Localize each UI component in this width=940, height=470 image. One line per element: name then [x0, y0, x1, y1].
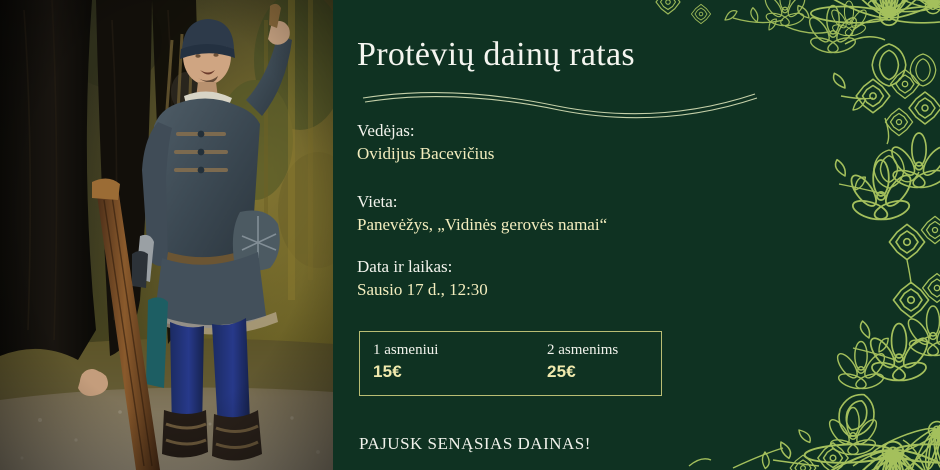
field-place: Vieta: Panevėžys, „Vidinės gerovės namai…: [357, 191, 827, 237]
page-title: Protėvių dainų ratas: [357, 36, 827, 73]
field-place-label: Vieta:: [357, 191, 827, 214]
event-poster: Protėvių dainų ratas Vedėjas: Ovidijus B…: [0, 0, 940, 470]
field-host: Vedėjas: Ovidijus Bacevičius: [357, 120, 827, 166]
tagline: PAJUSK SENĄSIAS DAINAS!: [359, 434, 591, 454]
wave-divider-icon: [359, 86, 759, 120]
price-amount-double: 25€: [547, 360, 618, 385]
folk-performer-photo: [0, 0, 333, 470]
info-panel: Protėvių dainų ratas Vedėjas: Ovidijus B…: [333, 0, 940, 470]
field-host-label: Vedėjas:: [357, 120, 827, 143]
price-label-double: 2 asmenims: [547, 340, 618, 360]
poster-content: Protėvių dainų ratas Vedėjas: Ovidijus B…: [357, 0, 857, 470]
field-datetime-label: Data ir laikas:: [357, 256, 827, 279]
price-amount-single: 15€: [373, 360, 438, 385]
price-box: 1 asmeniui 15€ 2 asmenims 25€: [359, 331, 662, 396]
field-host-value: Ovidijus Bacevičius: [357, 143, 827, 166]
field-datetime: Data ir laikas: Sausio 17 d., 12:30: [357, 256, 827, 302]
price-column-double: 2 asmenims 25€: [547, 340, 618, 385]
field-place-value: Panevėžys, „Vidinės gerovės namai“: [357, 214, 827, 237]
price-column-single: 1 asmeniui 15€: [373, 340, 438, 385]
price-label-single: 1 asmeniui: [373, 340, 438, 360]
field-datetime-value: Sausio 17 d., 12:30: [357, 279, 827, 302]
